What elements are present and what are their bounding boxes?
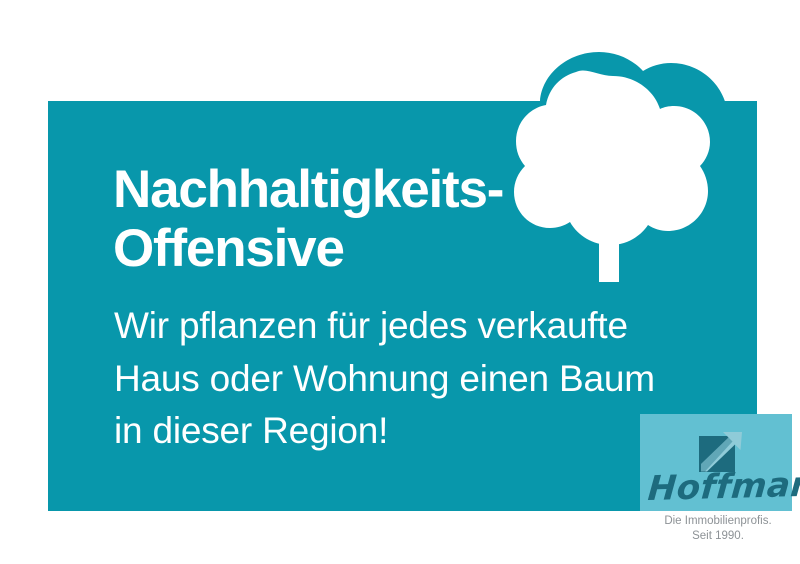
- poster-canvas: Nachhaltigkeits- Offensive Wir pflanzen …: [0, 0, 800, 564]
- logo-wordmark: Hoffmann: [646, 462, 800, 512]
- logo-tagline: Die Immobilienprofis. Seit 1990.: [638, 514, 798, 544]
- page-title: Nachhaltigkeits- Offensive: [113, 160, 543, 279]
- poster-body-text: Wir pflanzen für jedes verkaufte Haus od…: [114, 300, 714, 458]
